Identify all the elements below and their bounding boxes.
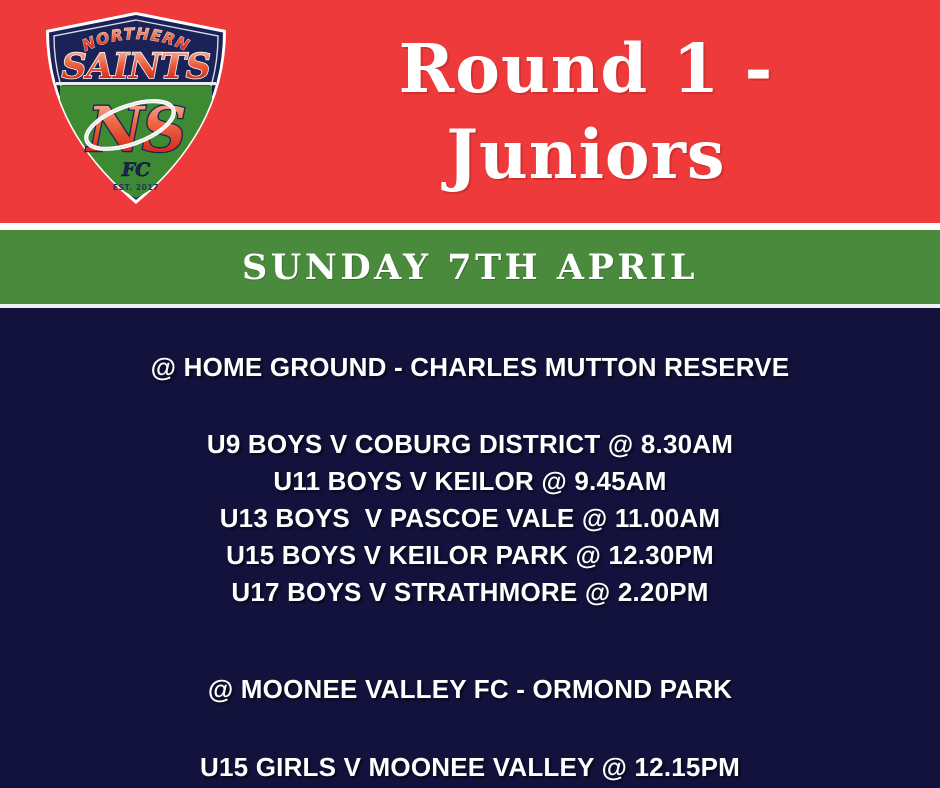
match-row: U11 BOYS V KEILOR @ 9.45AM	[0, 463, 940, 500]
fixtures-content: @ HOME GROUND - CHARLES MUTTON RESERVE U…	[0, 308, 940, 786]
date-band: SUNDAY 7TH APRIL	[0, 230, 940, 304]
poster-title: Round 1 - Juniors	[250, 16, 922, 208]
venue-heading-away: @ MOONEE VALLEY FC - ORMOND PARK	[0, 674, 940, 705]
match-row: U9 BOYS V COBURG DISTRICT @ 8.30AM	[0, 426, 940, 463]
match-row: U15 BOYS V KEILOR PARK @ 12.30PM	[0, 537, 940, 574]
divider-white-top	[0, 223, 940, 230]
fixture-poster: NORTHERN SAINTS NS FC EST. 2017 Round 1 …	[0, 0, 940, 788]
match-list-home: U9 BOYS V COBURG DISTRICT @ 8.30AM U11 B…	[0, 426, 940, 611]
northern-saints-fc-logo: NORTHERN SAINTS NS FC EST. 2017	[38, 8, 234, 208]
title-line-2: Juniors	[446, 112, 725, 198]
match-list-away: U15 GIRLS V MOONEE VALLEY @ 12.15PM	[0, 749, 940, 786]
venue-heading-home: @ HOME GROUND - CHARLES MUTTON RESERVE	[0, 352, 940, 383]
logo-club-suffix: FC	[121, 159, 151, 181]
date-text: SUNDAY 7TH APRIL	[242, 247, 698, 288]
match-row: U17 BOYS V STRATHMORE @ 2.20PM	[0, 574, 940, 611]
match-row: U15 GIRLS V MOONEE VALLEY @ 12.15PM	[0, 749, 940, 786]
logo-established: EST. 2017	[113, 183, 159, 192]
match-row: U13 BOYS V PASCOE VALE @ 11.00AM	[0, 500, 940, 537]
title-line-1: Round 1 -	[399, 26, 774, 112]
logo-main-text: SAINTS	[61, 46, 210, 87]
